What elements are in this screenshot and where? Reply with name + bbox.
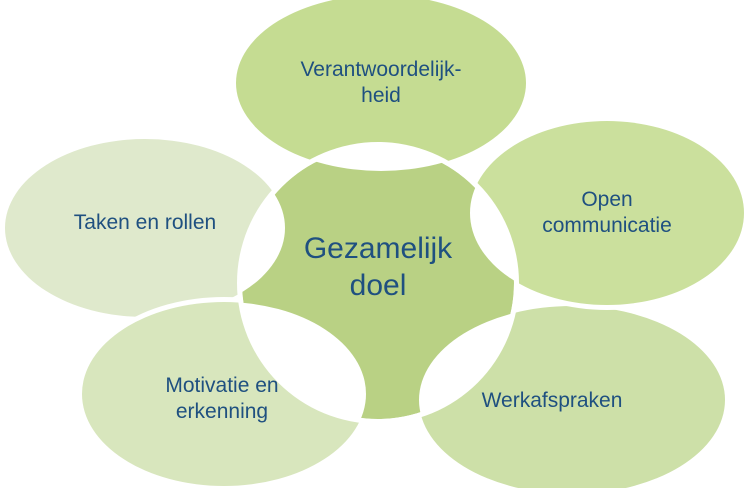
petal-verantwoordelijkheid-shape — [236, 0, 526, 171]
petal-taken-en-rollen-shape — [5, 139, 285, 317]
petal-open-communicatie-shape — [470, 121, 744, 305]
petal-werkafspraken-shape — [419, 306, 725, 488]
petal-diagram-graphic — [0, 0, 750, 488]
petal-motivatie-en-erkenning-shape — [82, 302, 366, 486]
diagram-canvas: Verantwoordelijk- heid Open communicatie… — [0, 0, 750, 488]
